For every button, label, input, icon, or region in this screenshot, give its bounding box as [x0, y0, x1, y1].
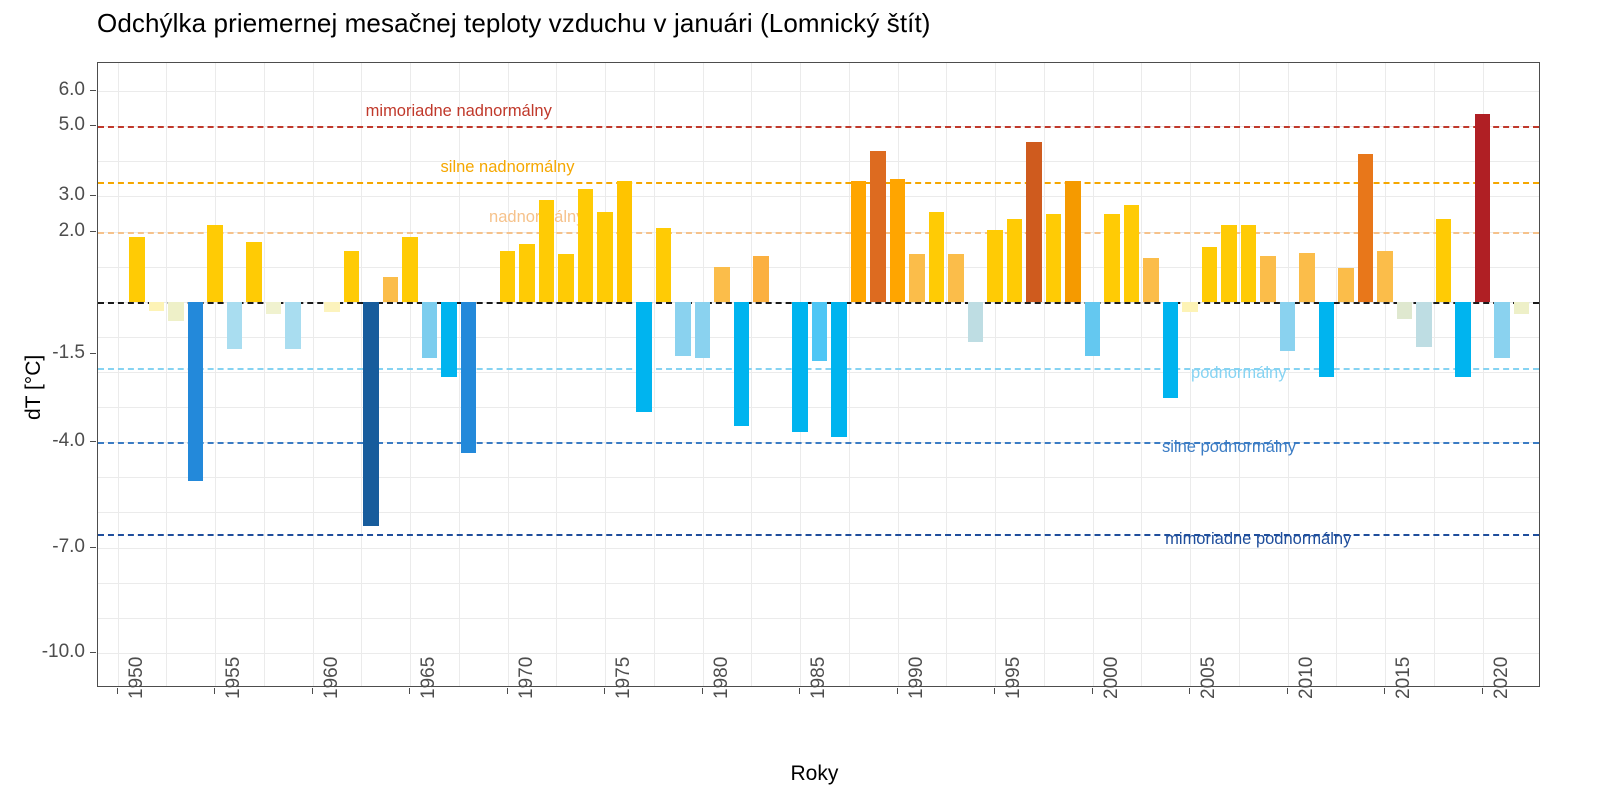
bar	[1007, 219, 1023, 302]
bar	[1338, 268, 1354, 301]
bar	[266, 302, 282, 314]
bar	[695, 302, 711, 358]
x-tick-label: 2020	[1491, 657, 1513, 699]
x-tick-mark	[117, 688, 118, 694]
bar	[188, 302, 204, 481]
bar	[1026, 142, 1042, 302]
bar	[909, 254, 925, 301]
y-tick-mark	[90, 652, 96, 653]
bar	[1221, 225, 1237, 302]
bar	[617, 181, 633, 302]
bar	[714, 267, 730, 302]
x-tick-label: 1965	[418, 657, 440, 699]
bar	[1436, 219, 1452, 302]
y-tick-label: 6.0	[59, 79, 85, 101]
y-tick-label: -1.5	[52, 342, 85, 364]
x-axis-label: Roky	[791, 762, 839, 786]
plot-panel: mimoriadne nadnormálnysilne nadnormálnyn…	[97, 62, 1540, 687]
bar	[441, 302, 457, 377]
y-tick-label: -7.0	[52, 536, 85, 558]
x-tick-mark	[507, 688, 508, 694]
bar	[675, 302, 691, 356]
y-tick-mark	[90, 195, 96, 196]
bar	[227, 302, 243, 349]
bar	[129, 237, 145, 302]
bar	[1202, 247, 1218, 301]
x-tick-mark	[897, 688, 898, 694]
bar	[402, 237, 418, 302]
bar	[500, 251, 516, 302]
bar	[1163, 302, 1179, 399]
x-tick-label: 1985	[808, 657, 830, 699]
bar	[656, 228, 672, 302]
bar	[812, 302, 828, 362]
bar	[870, 151, 886, 302]
bar	[383, 277, 399, 302]
bar	[285, 302, 301, 349]
bar	[1455, 302, 1471, 377]
bar	[1358, 154, 1374, 301]
bar	[1046, 214, 1062, 302]
bar	[324, 302, 340, 313]
bar	[1260, 256, 1276, 302]
bar	[987, 230, 1003, 302]
bar	[597, 212, 613, 302]
bar	[1182, 302, 1198, 313]
y-axis-label: dT [°C]	[22, 354, 46, 419]
bar	[831, 302, 847, 437]
bar	[1494, 302, 1510, 358]
x-tick-mark	[994, 688, 995, 694]
bar	[1124, 205, 1140, 302]
chart-root: Odchýlka priemernej mesačnej teploty vzd…	[0, 0, 1600, 800]
bar	[422, 302, 438, 358]
x-tick-mark	[1482, 688, 1483, 694]
bar	[1377, 251, 1393, 302]
page-title: Odchýlka priemernej mesačnej teploty vzd…	[97, 8, 931, 39]
x-tick-mark	[1092, 688, 1093, 694]
x-tick-label: 1995	[1003, 657, 1025, 699]
x-tick-label: 1955	[223, 657, 245, 699]
bar	[1241, 225, 1257, 302]
bar	[968, 302, 984, 342]
x-tick-label: 2000	[1101, 657, 1123, 699]
y-tick-mark	[90, 547, 96, 548]
bar	[792, 302, 808, 432]
x-tick-label: 1975	[613, 657, 635, 699]
x-tick-mark	[604, 688, 605, 694]
bar	[558, 254, 574, 301]
bar	[519, 244, 535, 302]
bar	[539, 200, 555, 302]
bar	[636, 302, 652, 413]
bar-series	[98, 63, 1539, 686]
x-tick-mark	[702, 688, 703, 694]
bar	[1475, 114, 1491, 302]
bar	[929, 212, 945, 302]
x-tick-mark	[409, 688, 410, 694]
bar	[1104, 214, 1120, 302]
bar	[1280, 302, 1296, 351]
y-tick-label: 3.0	[59, 184, 85, 206]
bar	[461, 302, 477, 453]
x-tick-label: 2010	[1296, 657, 1318, 699]
x-tick-mark	[799, 688, 800, 694]
x-tick-label: 1980	[711, 657, 733, 699]
x-tick-label: 1970	[516, 657, 538, 699]
bar	[1085, 302, 1101, 356]
x-tick-label: 1950	[126, 657, 148, 699]
y-tick-label: -10.0	[42, 641, 85, 663]
y-tick-mark	[90, 441, 96, 442]
bar	[207, 225, 223, 302]
x-tick-label: 1960	[321, 657, 343, 699]
y-tick-mark	[90, 90, 96, 91]
bar	[734, 302, 750, 427]
bar	[1299, 253, 1315, 302]
y-tick-label: -4.0	[52, 430, 85, 452]
x-tick-label: 1990	[906, 657, 928, 699]
bar	[851, 181, 867, 302]
y-tick-mark	[90, 231, 96, 232]
bar	[1514, 302, 1530, 314]
x-tick-mark	[1384, 688, 1385, 694]
x-tick-mark	[214, 688, 215, 694]
bar	[948, 254, 964, 301]
y-tick-label: 5.0	[59, 114, 85, 136]
x-tick-label: 2005	[1198, 657, 1220, 699]
bar	[890, 179, 906, 302]
bar	[168, 302, 184, 321]
bar	[149, 302, 165, 311]
bar	[753, 256, 769, 302]
bar	[1065, 181, 1081, 302]
bar	[1416, 302, 1432, 348]
bar	[344, 251, 360, 302]
bar	[246, 242, 262, 302]
bar	[1397, 302, 1413, 320]
x-tick-mark	[1189, 688, 1190, 694]
y-tick-mark	[90, 125, 96, 126]
x-tick-mark	[1287, 688, 1288, 694]
y-tick-mark	[90, 353, 96, 354]
x-tick-label: 2015	[1393, 657, 1415, 699]
y-tick-label: 2.0	[59, 220, 85, 242]
bar	[1143, 258, 1159, 302]
bar	[578, 189, 594, 301]
x-tick-mark	[312, 688, 313, 694]
bar	[1319, 302, 1335, 377]
bar	[363, 302, 379, 527]
